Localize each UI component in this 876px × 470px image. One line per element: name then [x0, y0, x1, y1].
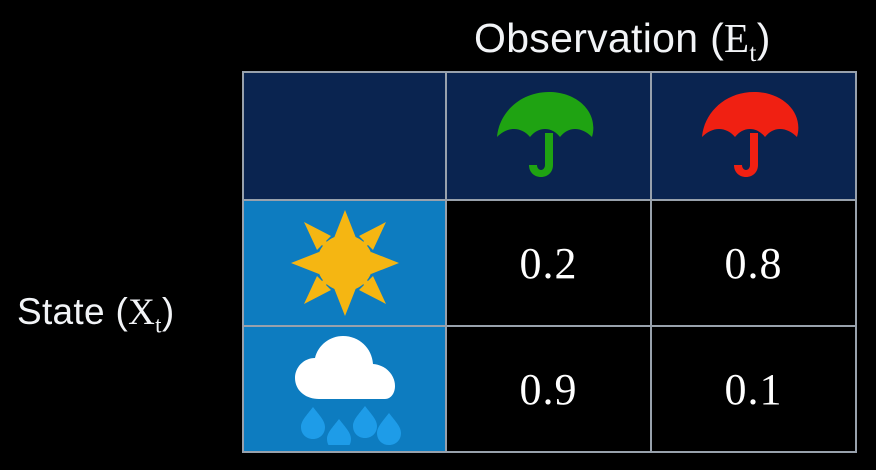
prob-cell-rainy-no-umbrella: 0.9: [446, 326, 651, 452]
paren-close: ): [757, 15, 771, 61]
emission-probability-figure: Observation (Et) State (Xt): [0, 0, 876, 470]
state-title-text: State: [17, 291, 105, 332]
paren-close: ): [162, 291, 175, 332]
prob-cell-rainy-umbrella: 0.1: [651, 326, 856, 452]
prob-value: 0.8: [725, 239, 783, 288]
column-header-no-umbrella: [446, 72, 651, 200]
emission-probability-table: 0.2 0.8: [242, 71, 857, 453]
prob-value: 0.9: [520, 365, 578, 414]
umbrella-red-icon: [652, 73, 855, 199]
prob-value: 0.2: [520, 239, 578, 288]
observation-axis-title: Observation (Et): [474, 12, 771, 64]
prob-value: 0.1: [725, 365, 783, 414]
paren-open: (: [710, 15, 724, 61]
row-header-sunny: [243, 200, 446, 326]
paren-open: (: [116, 291, 129, 332]
prob-cell-sunny-no-umbrella: 0.2: [446, 200, 651, 326]
observation-variable: E: [724, 15, 749, 61]
table-row: 0.2 0.8: [243, 200, 856, 326]
observation-subscript: t: [749, 39, 756, 67]
corner-cell: [243, 72, 446, 200]
column-header-umbrella: [651, 72, 856, 200]
observation-title-text: Observation: [474, 15, 698, 61]
table-row: 0.9 0.1: [243, 326, 856, 452]
prob-cell-sunny-umbrella: 0.8: [651, 200, 856, 326]
sun-icon: [244, 201, 445, 325]
rain-cloud-icon: [244, 327, 445, 451]
state-variable: X: [128, 292, 155, 333]
state-axis-title: State (Xt): [17, 288, 174, 337]
umbrella-green-icon: [447, 73, 650, 199]
state-subscript: t: [155, 312, 162, 337]
row-header-rainy: [243, 326, 446, 452]
table-header-row: [243, 72, 856, 200]
